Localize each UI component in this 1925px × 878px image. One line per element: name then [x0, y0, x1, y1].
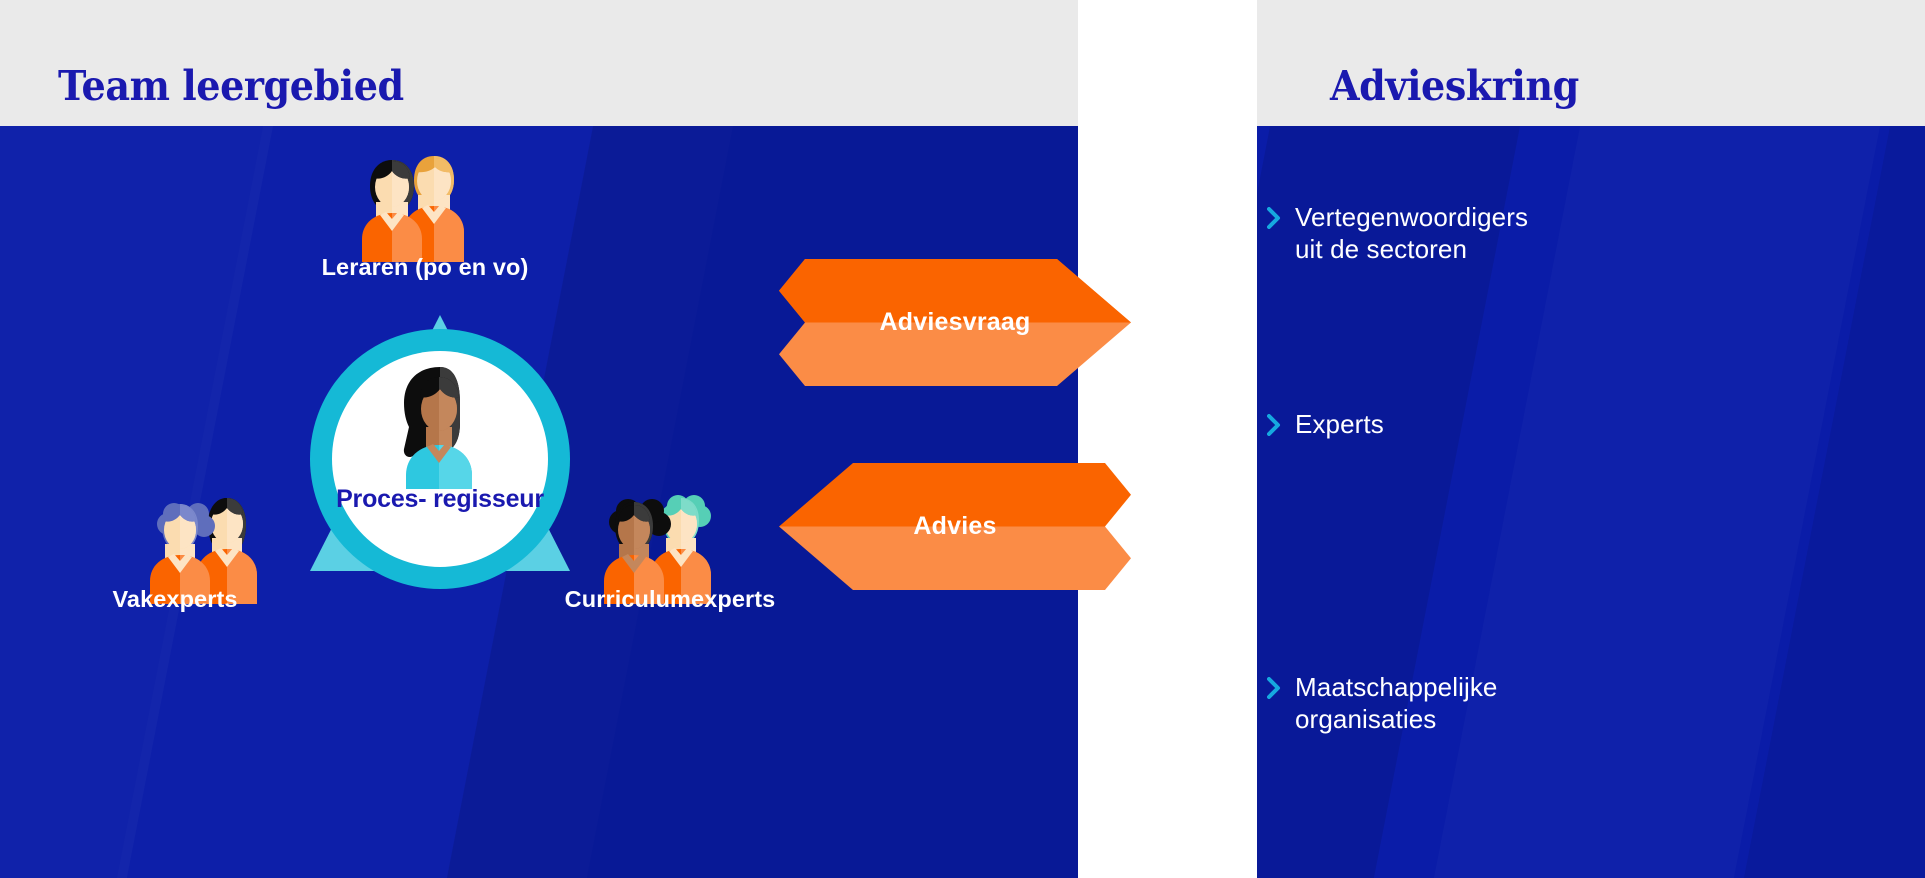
chevron-right-icon [1267, 677, 1281, 704]
list-item-maatschappelijke-organisaties[interactable]: Maatschappelijke organisaties [1267, 672, 1498, 736]
chevron-right-icon [1267, 207, 1281, 234]
list-item-vertegenwoordigers[interactable]: Vertegenwoordigers uit de sectoren [1267, 202, 1528, 266]
group-label-vakexperts: Vakexperts [50, 586, 300, 613]
leraren-people-icon [362, 150, 490, 262]
experts-people-icon [1257, 453, 1269, 583]
right-header-band: Advieskring [1257, 0, 1925, 126]
adviesvraag-arrow: Adviesvraag [779, 259, 1131, 386]
list-item-label: Maatschappelijke organisaties [1295, 672, 1498, 736]
right-panel: Vertegenwoordigers uit de sectoren [1257, 126, 1925, 878]
list-item-label: Experts [1295, 409, 1384, 441]
center-badge-label: Proces- regisseur [304, 485, 576, 514]
maatschappelijke-organisaties-people-icon [1257, 740, 1269, 878]
list-item-label: Vertegenwoordigers uit de sectoren [1295, 202, 1528, 266]
page-title-left: Team leergebied [58, 62, 404, 110]
list-item-experts[interactable]: Experts [1267, 409, 1384, 441]
group-label-leraren: Leraren (po en vo) [220, 254, 630, 281]
background-diagonal-r3 [1744, 126, 1925, 878]
page-title-right: Advieskring [1330, 62, 1579, 110]
advies-arrow: Advies [779, 463, 1131, 590]
group-label-curriculumexperts: Curriculumexperts [470, 586, 870, 613]
infographic-root: Team leergebied Advieskring [0, 0, 1925, 878]
left-header-band: Team leergebied [0, 0, 1078, 126]
chevron-right-icon [1267, 414, 1281, 441]
proces-regisseur-badge: Proces- regisseur [304, 313, 576, 601]
